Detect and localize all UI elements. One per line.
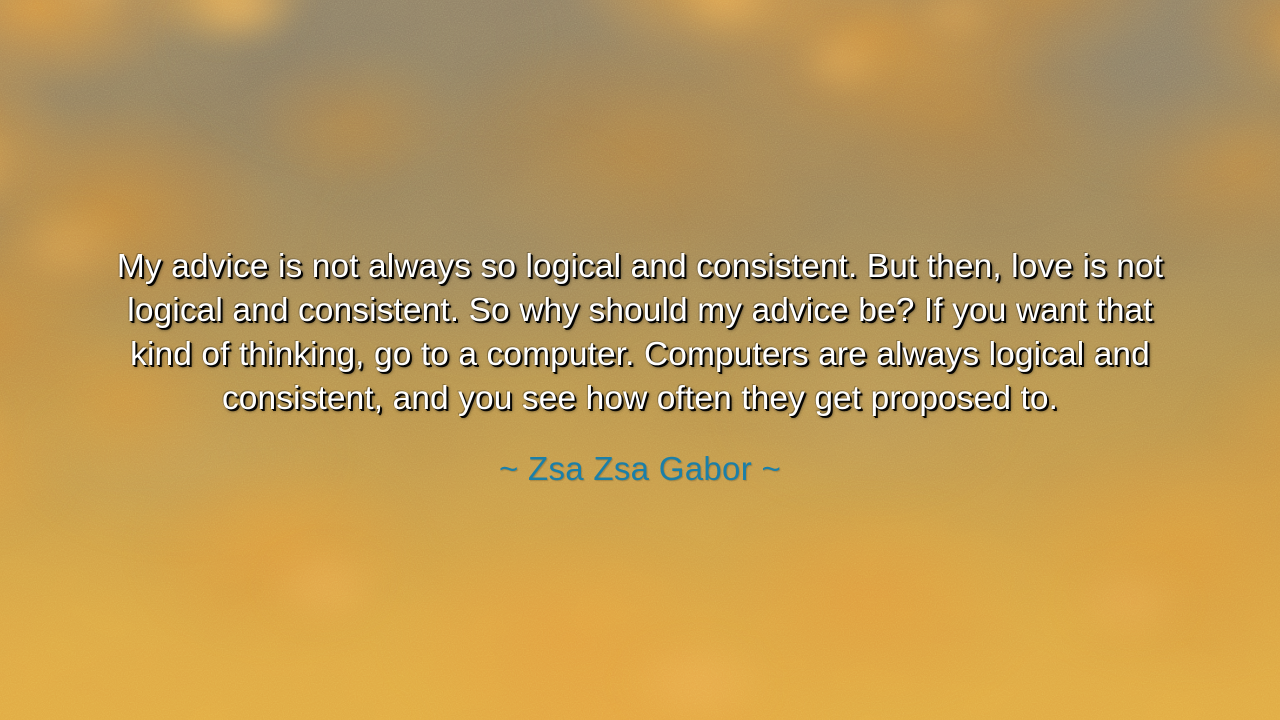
quote-text: My advice is not always so logical and c… (105, 245, 1175, 421)
quote-card: My advice is not always so logical and c… (0, 0, 1280, 720)
quote-attribution: ~ Zsa Zsa Gabor ~ (499, 449, 781, 489)
quote-content: My advice is not always so logical and c… (0, 0, 1280, 720)
